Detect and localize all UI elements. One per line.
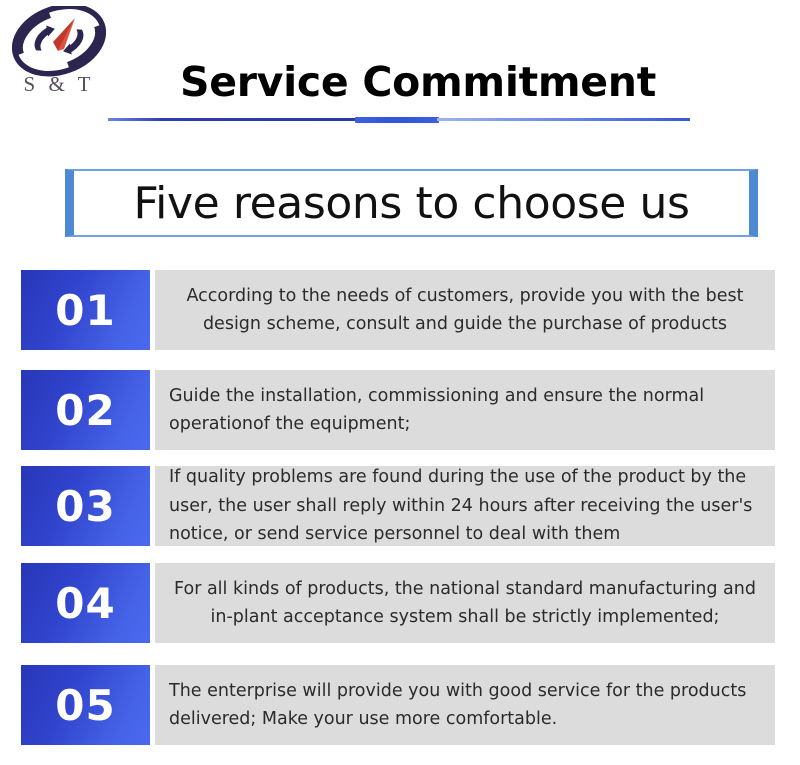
reason-text: The enterprise will provide you with goo… — [169, 677, 761, 734]
reason-row: 05The enterprise will provide you with g… — [0, 665, 800, 745]
reason-text: If quality problems are found during the… — [169, 463, 761, 548]
reason-number-badge: 01 — [21, 270, 150, 350]
reasons-list: 01According to the needs of customers, p… — [0, 270, 800, 745]
reason-row: 02Guide the installation, commissioning … — [0, 370, 800, 450]
reason-number-badge: 02 — [21, 370, 150, 450]
title-underline-decoration — [108, 117, 690, 122]
reason-number-badge: 04 — [21, 563, 150, 643]
reason-text: Guide the installation, commissioning an… — [169, 382, 761, 439]
underline-segment-right — [437, 118, 690, 121]
underline-segment-middle — [355, 117, 439, 123]
reason-row: 04For all kinds of products, the nationa… — [0, 563, 800, 643]
underline-segment-left — [108, 118, 358, 121]
banner-box: Five reasons to choose us — [65, 169, 758, 237]
reason-number-badge: 05 — [21, 665, 150, 745]
reason-text-panel: According to the needs of customers, pro… — [155, 270, 775, 350]
reason-text: For all kinds of products, the national … — [169, 575, 761, 632]
page-title: Service Commitment — [0, 62, 800, 103]
reason-text-panel: If quality problems are found during the… — [155, 466, 775, 546]
reason-text-panel: The enterprise will provide you with goo… — [155, 665, 775, 745]
reason-row: 01According to the needs of customers, p… — [0, 270, 800, 350]
reason-number-badge: 03 — [21, 466, 150, 546]
reason-text: According to the needs of customers, pro… — [169, 282, 761, 339]
reason-row: 03If quality problems are found during t… — [0, 466, 800, 546]
banner-title: Five reasons to choose us — [74, 171, 749, 235]
reason-text-panel: Guide the installation, commissioning an… — [155, 370, 775, 450]
reason-text-panel: For all kinds of products, the national … — [155, 563, 775, 643]
